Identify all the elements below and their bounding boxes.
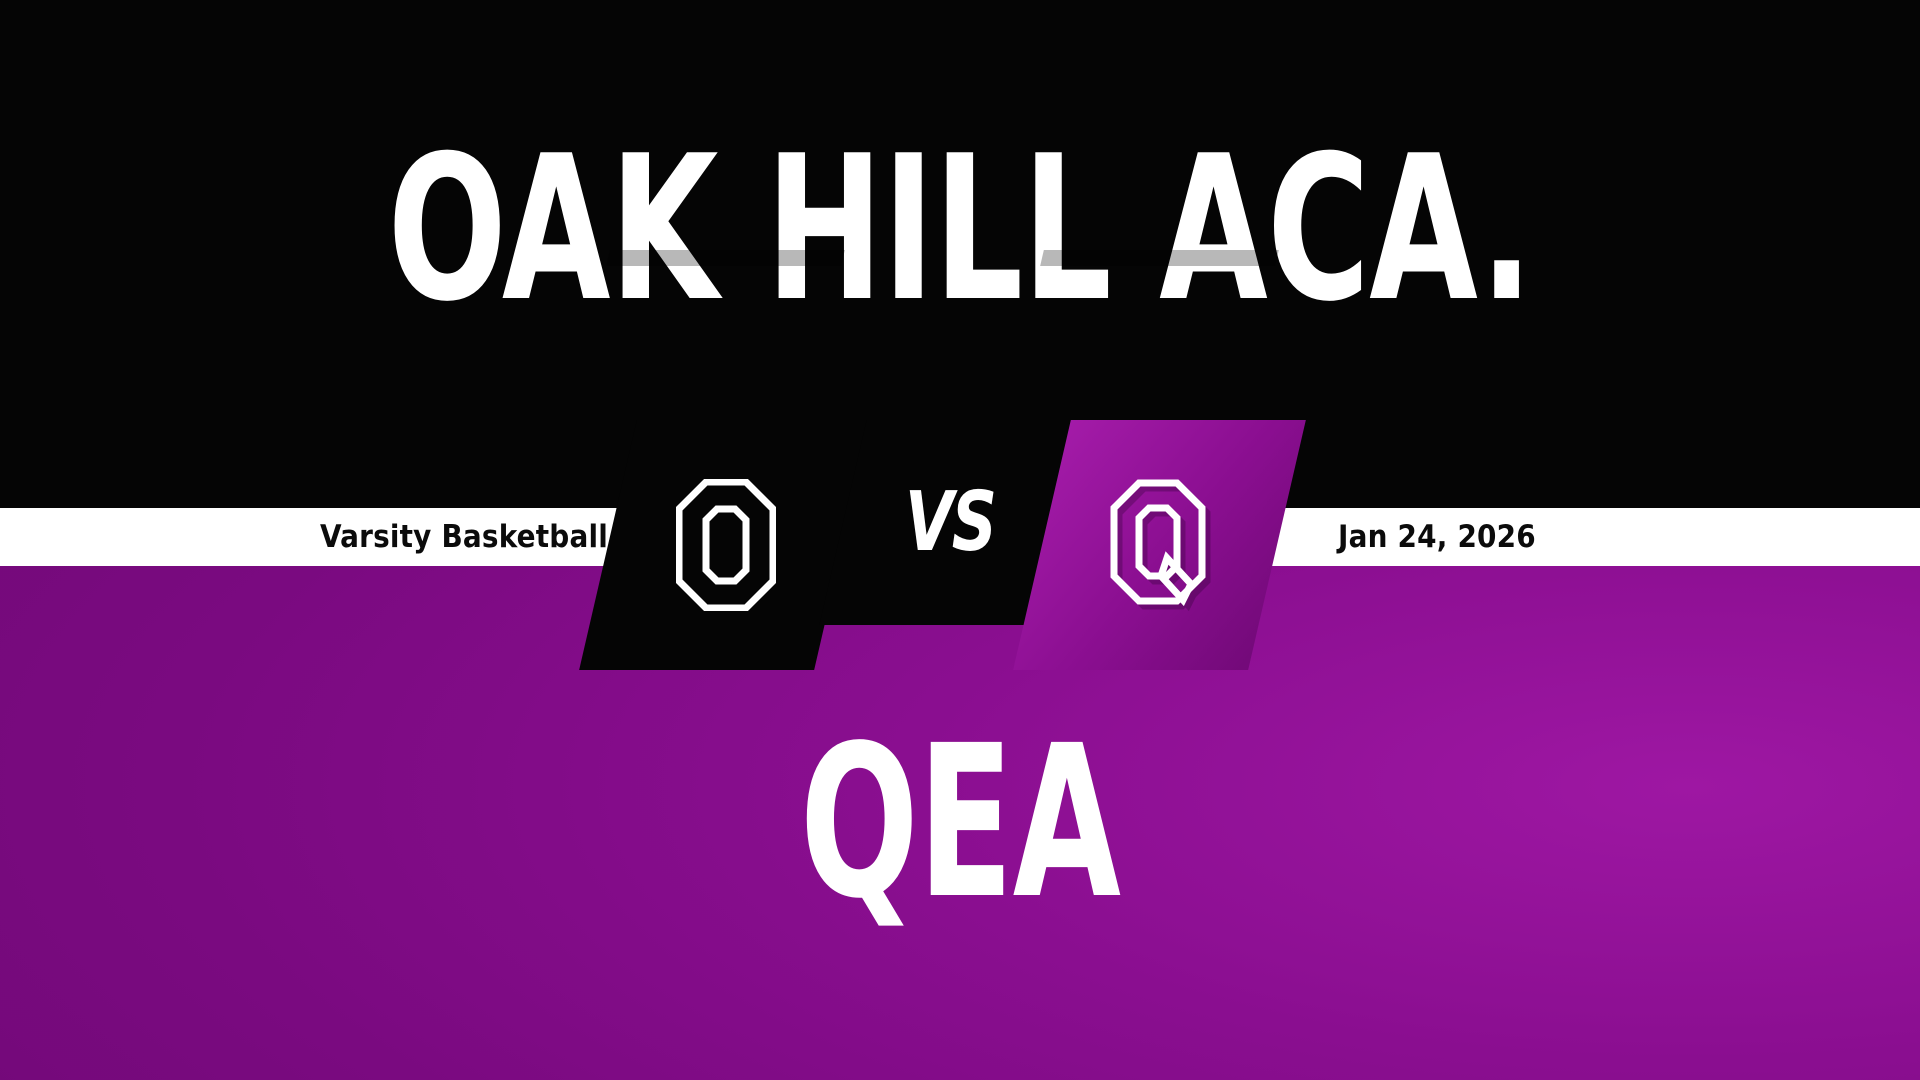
- away-team-name: OAK HILL ACA.: [211, 130, 1709, 330]
- oak-hill-o-monogram-icon: [676, 479, 776, 611]
- vs-label: VS: [905, 482, 995, 564]
- matchup-graphic: OAK HILL ACA. Varsity Basketball Jan 24,…: [0, 0, 1920, 1080]
- away-logo-badge[interactable]: [579, 420, 872, 670]
- home-team-name: QEA: [250, 718, 1671, 928]
- away-badge-shadow: [606, 250, 845, 266]
- qea-q-monogram-icon: [1106, 475, 1214, 615]
- home-badge-shadow: [1040, 250, 1279, 266]
- game-date: Jan 24, 2026: [1338, 508, 1536, 566]
- sport-label: Varsity Basketball: [320, 508, 608, 566]
- home-logo-badge[interactable]: [1013, 420, 1306, 670]
